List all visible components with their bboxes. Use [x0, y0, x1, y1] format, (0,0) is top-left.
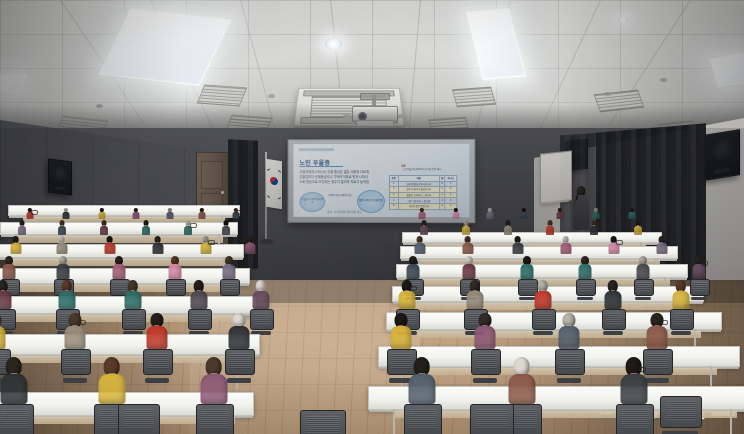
person-torso: [2, 264, 15, 279]
glasses-icon: [231, 261, 238, 266]
person-torso: [104, 243, 115, 254]
person-torso: [556, 212, 563, 219]
chair-back: [576, 279, 596, 296]
chair-mesh: [192, 313, 209, 325]
person-torso: [58, 226, 66, 235]
person-torso: [166, 212, 173, 219]
audience-member: [10, 236, 21, 254]
chair-back: [143, 349, 173, 375]
glasses-icon: [410, 286, 417, 291]
audience-member: [0, 280, 11, 309]
audience-member: [636, 256, 649, 279]
person-torso: [512, 243, 523, 254]
audience-member: [486, 208, 493, 219]
glasses-icon: [190, 223, 197, 228]
chair[interactable]: [634, 279, 652, 300]
chair-seat: [145, 378, 170, 383]
chair-back: [118, 404, 160, 434]
chair-back: [471, 349, 501, 375]
person-torso: [628, 212, 635, 219]
person-torso: [452, 212, 459, 219]
audience-member: [692, 256, 705, 279]
person-torso: [636, 264, 649, 279]
person-torso: [398, 291, 415, 309]
chair-back: [225, 349, 255, 375]
chair-seat: [519, 297, 535, 300]
person-torso: [64, 326, 85, 349]
chair[interactable]: [643, 349, 671, 383]
person-torso: [420, 226, 428, 235]
person-torso: [520, 212, 527, 219]
person-head: [0, 313, 1, 327]
chair-mesh: [579, 282, 593, 291]
chair-mesh: [409, 409, 436, 428]
audience-member: [56, 236, 67, 254]
glasses-icon: [616, 240, 623, 245]
audience-member: [252, 280, 269, 309]
chair-mesh: [1, 409, 28, 428]
glasses-icon: [597, 210, 604, 215]
glasses-icon: [661, 320, 668, 325]
person-torso: [390, 326, 411, 349]
person-torso: [466, 291, 483, 309]
chair[interactable]: [61, 349, 89, 383]
person-torso: [18, 226, 26, 235]
audience-member: [200, 236, 211, 254]
audience-member: [168, 256, 181, 279]
person-torso: [508, 374, 535, 404]
audience-member: [604, 280, 621, 309]
person-torso: [578, 264, 591, 279]
chair-seat: [645, 378, 670, 383]
whiteboard: [540, 150, 572, 203]
chair-seat: [603, 331, 622, 335]
projection-screen: 노인 우울증 고령자에게 나타나는 우울 증상은 젊은 사람과 다르게 우울감보…: [287, 139, 475, 223]
audience-member: [592, 208, 599, 219]
audience-member: [184, 220, 192, 235]
audience-member: [508, 357, 535, 404]
chair-back: [188, 309, 212, 330]
person-torso: [462, 243, 473, 254]
chair-back: [300, 410, 346, 434]
chair-back: [670, 309, 694, 330]
chair-mesh: [621, 409, 648, 428]
person-torso: [190, 291, 207, 309]
person-torso: [634, 226, 642, 235]
audience-member: [546, 220, 554, 235]
chair-seat: [671, 331, 690, 335]
person-torso: [656, 243, 667, 254]
audience-member: [558, 313, 579, 349]
desk[interactable]: [0, 222, 238, 235]
person-torso: [146, 326, 167, 349]
audience-member: [534, 280, 551, 309]
chair-back: [616, 404, 654, 434]
glasses-icon: [639, 367, 646, 372]
glasses-icon: [31, 210, 38, 215]
audience-member: [628, 208, 635, 219]
chair-mesh: [475, 353, 496, 368]
chair[interactable]: [660, 396, 700, 434]
person-torso: [58, 291, 75, 309]
lecture-hall-photo: 노인 우울증 고령자에게 나타나는 우울 증상은 젊은 사람과 다르게 우울감보…: [0, 0, 744, 434]
chair-back: [166, 279, 186, 296]
chair[interactable]: [690, 279, 708, 300]
audience-member: [520, 208, 527, 219]
chair-mesh: [476, 409, 508, 429]
desk[interactable]: [8, 205, 240, 216]
chair-back: [660, 396, 702, 428]
person-torso: [406, 264, 419, 279]
audience-member: [100, 220, 108, 235]
audience-member: [124, 280, 141, 309]
person-torso: [56, 264, 69, 279]
person-torso: [560, 243, 571, 254]
chair-back: [470, 404, 514, 434]
person-torso: [222, 264, 235, 279]
chair-mesh: [693, 282, 707, 291]
chair-back: [634, 279, 654, 296]
audience-member: [64, 313, 85, 349]
audience-member: [414, 236, 425, 254]
chair-mesh: [666, 401, 696, 420]
presenter: [572, 186, 589, 230]
audience-member: [556, 208, 563, 219]
audience-member: [462, 256, 475, 279]
slide-table: 문항내용예아니오1현재 생활에 만족하십니까012활동과 흥미가 줄었습니까10…: [389, 175, 457, 210]
chair[interactable]: [576, 279, 594, 300]
audience-member: [656, 236, 667, 254]
chair[interactable]: [143, 349, 171, 383]
chair-seat: [227, 378, 252, 383]
person-torso: [620, 374, 647, 404]
chair-mesh: [65, 353, 86, 368]
chair[interactable]: [555, 349, 583, 383]
chair-mesh: [521, 282, 535, 291]
person-torso: [142, 226, 150, 235]
audience-member: [608, 236, 619, 254]
glasses-icon: [79, 320, 86, 325]
audience-member: [104, 236, 115, 254]
chair[interactable]: [404, 404, 440, 434]
chair-seat: [63, 378, 88, 383]
chair-mesh: [606, 313, 623, 325]
chair-back: [690, 279, 710, 296]
audience-member: [200, 357, 227, 404]
person-torso: [228, 326, 249, 349]
audience-member: [98, 357, 125, 404]
chair-mesh: [306, 416, 339, 434]
chair-back: [404, 404, 442, 434]
slide-page-number: 15: [401, 163, 405, 168]
audience-member: [58, 280, 75, 309]
audience-member: [190, 280, 207, 309]
audience-member: [18, 220, 26, 235]
glasses-icon: [208, 240, 215, 245]
chair-seat: [473, 378, 498, 383]
person-torso: [200, 374, 227, 404]
person-torso: [462, 226, 470, 235]
person-torso: [252, 291, 269, 309]
person-torso: [124, 291, 141, 309]
audience-member: [578, 256, 591, 279]
korean-flag: [252, 152, 280, 244]
audience-member: [474, 313, 495, 349]
chair-back: [122, 309, 146, 330]
microphone-icon: [576, 195, 578, 200]
slide-table-caption: 노인우울척도(GDS-K) 단축형 문항 예시: [389, 169, 455, 172]
chair[interactable]: [471, 349, 499, 383]
person-torso: [98, 212, 105, 219]
audience-member: [512, 236, 523, 254]
person-torso: [168, 264, 181, 279]
chair-seat: [533, 331, 552, 335]
person-torso: [462, 264, 475, 279]
chair-mesh: [201, 409, 228, 428]
audience-member: [62, 208, 69, 219]
audience-member: [0, 357, 27, 404]
chair-mesh: [637, 282, 651, 291]
chair-mesh: [147, 353, 168, 368]
person-torso: [0, 326, 5, 349]
audience-member: [520, 256, 533, 279]
audience-member: [232, 208, 239, 219]
chair-back: [643, 349, 673, 375]
person-torso: [100, 226, 108, 235]
chair-mesh: [229, 353, 250, 368]
chair-back: [0, 404, 34, 434]
audience-member: [590, 220, 598, 235]
audience-member: [198, 208, 205, 219]
person-torso: [98, 374, 125, 404]
audience-member: [0, 313, 5, 349]
desk[interactable]: [402, 232, 662, 243]
person-torso: [62, 212, 69, 219]
audience-member: [504, 220, 512, 235]
downlight-center-icon: [325, 38, 342, 50]
chair-back: [220, 279, 240, 296]
audience-member: [98, 208, 105, 219]
audience-member: [222, 220, 230, 235]
person-torso: [418, 212, 425, 219]
person-torso: [112, 264, 125, 279]
chair-mesh: [124, 409, 154, 429]
audience-member: [146, 313, 167, 349]
desk-leg: [730, 409, 732, 434]
audience-member: [166, 208, 173, 219]
audience-member: [418, 208, 425, 219]
person-torso: [408, 374, 435, 404]
person-torso: [692, 264, 705, 279]
audience-member: [56, 256, 69, 279]
person-torso: [244, 243, 255, 254]
chair-seat: [691, 297, 707, 300]
chair-mesh: [559, 353, 580, 368]
chair[interactable]: [122, 309, 144, 335]
person-torso: [520, 264, 533, 279]
person-torso: [604, 291, 621, 309]
glasses-icon: [701, 261, 708, 266]
audience-member: [142, 220, 150, 235]
audience-member: [462, 236, 473, 254]
audience-member: [560, 236, 571, 254]
chair-back: [196, 404, 234, 434]
audience-member: [26, 208, 33, 219]
chair-mesh: [223, 282, 237, 291]
chair[interactable]: [602, 309, 624, 335]
screen-glare: [293, 144, 389, 217]
person-torso: [414, 243, 425, 254]
chair[interactable]: [250, 309, 272, 335]
desk-apron: [15, 236, 223, 243]
chair[interactable]: [470, 404, 512, 434]
chair-mesh: [126, 313, 143, 325]
person-torso: [56, 243, 67, 254]
person-torso: [132, 212, 139, 219]
person-torso: [10, 243, 21, 254]
chair-seat: [577, 297, 593, 300]
audience-member: [398, 280, 415, 309]
chair-mesh: [169, 282, 183, 291]
person-torso: [222, 226, 230, 235]
person-torso: [474, 326, 495, 349]
chair-seat: [557, 378, 582, 383]
chair[interactable]: [118, 404, 158, 434]
audience-member: [672, 280, 689, 309]
chair[interactable]: [196, 404, 232, 434]
audience-member: [466, 280, 483, 309]
chair-back: [532, 309, 556, 330]
audience-member: [620, 357, 647, 404]
person-torso: [198, 212, 205, 219]
chair-back: [602, 309, 626, 330]
audience-member: [646, 313, 667, 349]
desk[interactable]: [0, 334, 260, 355]
chair-mesh: [254, 313, 271, 325]
audience-member: [462, 220, 470, 235]
audience-member: [2, 256, 15, 279]
audience-member: [244, 236, 255, 254]
audience-member: [420, 220, 428, 235]
person-torso: [534, 291, 551, 309]
sprinkler-icon: [268, 94, 275, 98]
audience-member: [390, 313, 411, 349]
speaker-left-icon: [48, 159, 72, 196]
chair-back: [61, 349, 91, 375]
audience-member: [452, 208, 459, 219]
chair-mesh: [536, 313, 553, 325]
audience-member: [222, 256, 235, 279]
chair-seat: [635, 297, 651, 300]
chair-back: [555, 349, 585, 375]
audience-member: [132, 208, 139, 219]
person-torso: [0, 374, 27, 404]
audience-member: [228, 313, 249, 349]
slide-table-cell: 5: [389, 203, 398, 209]
glasses-icon: [596, 223, 603, 228]
person-torso: [546, 226, 554, 235]
audience-member: [408, 357, 435, 404]
chair[interactable]: [670, 309, 692, 335]
chair-mesh: [674, 313, 691, 325]
person-torso: [558, 326, 579, 349]
chair-mesh: [647, 353, 668, 368]
chair[interactable]: [0, 404, 32, 434]
audience-member: [152, 236, 163, 254]
chair[interactable]: [532, 309, 554, 335]
person-torso: [0, 291, 11, 309]
chair[interactable]: [300, 410, 344, 434]
person-torso: [486, 212, 493, 219]
chair[interactable]: [225, 349, 253, 383]
desk-leg: [393, 409, 395, 434]
audience-member: [634, 220, 642, 235]
audience-member: [58, 220, 66, 235]
person-torso: [504, 226, 512, 235]
chair[interactable]: [188, 309, 210, 335]
glasses-icon: [237, 210, 244, 215]
audience-member: [406, 256, 419, 279]
person-torso: [672, 291, 689, 309]
chair[interactable]: [616, 404, 652, 434]
person-torso: [646, 326, 667, 349]
chair-back: [250, 309, 274, 330]
audience-member: [112, 256, 125, 279]
person-torso: [152, 243, 163, 254]
speaker-right-icon: [704, 129, 740, 181]
